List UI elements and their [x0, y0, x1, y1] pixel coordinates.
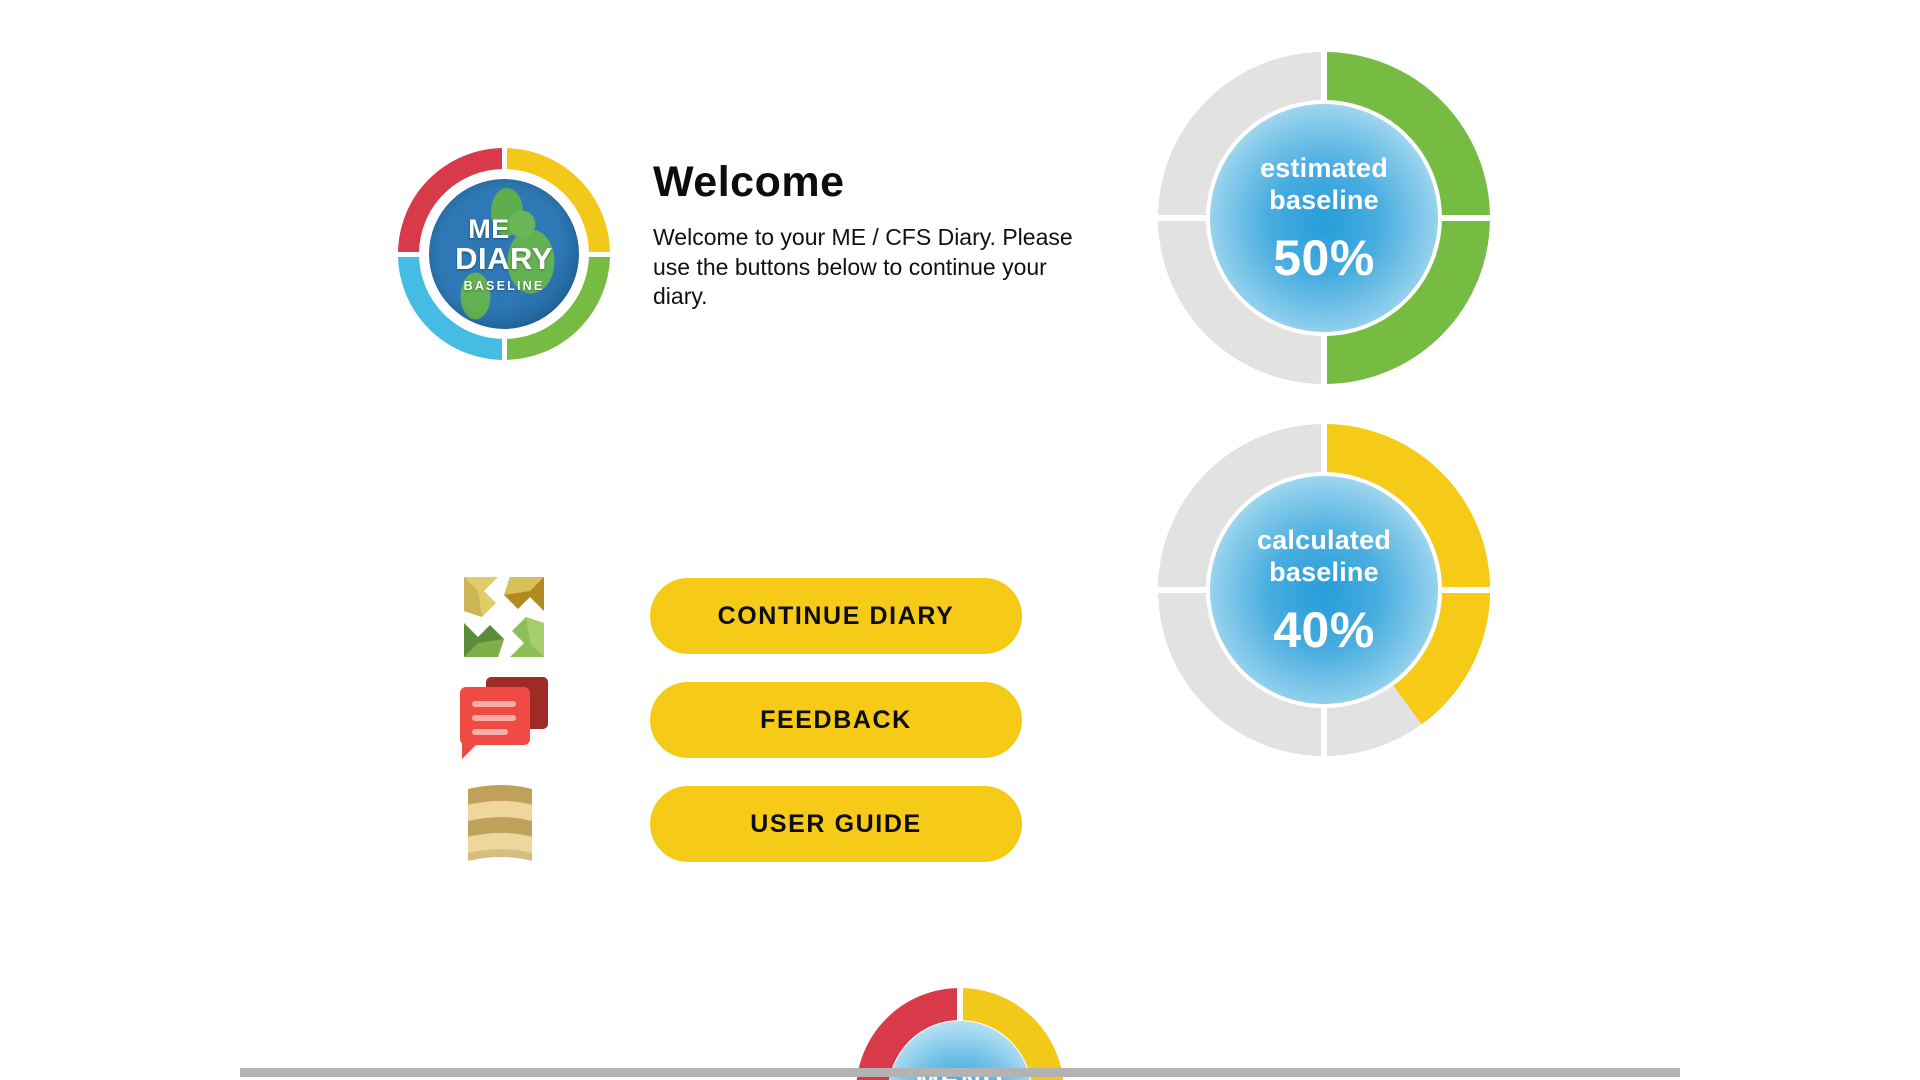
gauge-calculated-label-line1: calculated: [1257, 525, 1391, 557]
feedback-line-2: [472, 715, 516, 721]
welcome-description: Welcome to your ME / CFS Diary. Please u…: [653, 223, 1073, 311]
logo-word-me: ME: [468, 216, 510, 243]
gauge-calculated-label-line2: baseline: [1269, 557, 1379, 589]
action-list: CONTINUE DIARY FEEDBACK: [460, 565, 1060, 877]
feedback-line-1: [472, 701, 516, 707]
gauge-estimated-baseline[interactable]: estimated baseline 50%: [1158, 52, 1490, 384]
feedback-bubble-tail: [462, 739, 482, 759]
page-title: Welcome: [653, 160, 1073, 205]
gauge-calculated-value: 40%: [1273, 605, 1375, 655]
gauge-estimated-label-line2: baseline: [1269, 185, 1379, 217]
gauge-calculated-hub: calculated baseline 40%: [1210, 476, 1438, 704]
logo-wordmark: ME DIARY BASELINE: [429, 179, 579, 329]
horizontal-scrollbar[interactable]: [240, 1068, 1680, 1077]
user-guide-pages-icon: [460, 781, 552, 869]
welcome-section: Welcome Welcome to your ME / CFS Diary. …: [653, 160, 1073, 311]
continue-diary-button[interactable]: CONTINUE DIARY: [650, 578, 1022, 654]
app-logo: ME DIARY BASELINE: [398, 148, 610, 360]
feedback-line-3: [472, 729, 508, 735]
logo-word-baseline: BASELINE: [464, 280, 545, 293]
action-row-user-guide: USER GUIDE: [460, 773, 1060, 877]
action-row-feedback: FEEDBACK: [460, 669, 1060, 773]
user-guide-pages-icon-svg: [460, 781, 548, 867]
recycle-arrows-icon-svg: [460, 573, 548, 661]
logo-globe-icon: ME DIARY BASELINE: [429, 179, 579, 329]
gauge-estimated-value: 50%: [1273, 233, 1375, 283]
menu-button[interactable]: MENU: [856, 988, 1064, 1080]
feedback-button[interactable]: FEEDBACK: [650, 682, 1022, 758]
logo-word-diary: DIARY: [455, 243, 553, 276]
gauge-estimated-label-line1: estimated: [1260, 153, 1388, 185]
action-row-continue-diary: CONTINUE DIARY: [460, 565, 1060, 669]
gauge-estimated-hub: estimated baseline 50%: [1210, 104, 1438, 332]
feedback-icon-shape: [460, 677, 548, 761]
feedback-speech-bubble-icon: [460, 677, 552, 765]
gauge-calculated-baseline[interactable]: calculated baseline 40%: [1158, 424, 1490, 756]
user-guide-button[interactable]: USER GUIDE: [650, 786, 1022, 862]
recycle-arrows-icon: [460, 573, 552, 661]
app-root: ME DIARY BASELINE Welcome Welcome to you…: [0, 0, 1920, 1080]
